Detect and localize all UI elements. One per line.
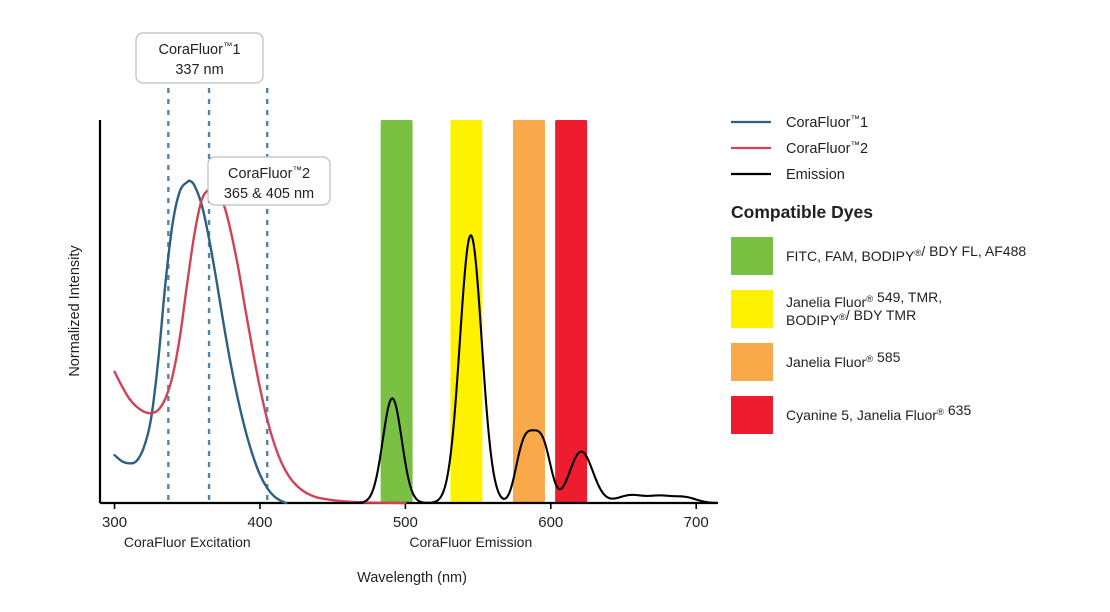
dye-reg-mark: ® bbox=[866, 294, 873, 305]
region-label-excitation: CoraFluor Excitation bbox=[124, 534, 251, 550]
x-tick-label-500: 500 bbox=[393, 514, 418, 531]
legend-tm-1: ™ bbox=[850, 114, 860, 125]
green-band bbox=[381, 120, 413, 503]
legend-tm-2: ™ bbox=[850, 140, 860, 151]
dye-text-run: Janelia Fluor bbox=[786, 354, 866, 370]
dye-row-2[interactable]: Janelia Fluor® 549, TMR,BODIPY®/ BDY TMR bbox=[731, 289, 942, 328]
spectra-figure: 300400500600700CoraFluor ExcitationCoraF… bbox=[0, 0, 1110, 612]
compatible-dyes-heading: Compatible Dyes bbox=[731, 202, 873, 222]
x-tick-label-300: 300 bbox=[102, 514, 127, 531]
dye-text-run: 585 bbox=[873, 349, 900, 365]
dye-reg-mark: ® bbox=[866, 354, 873, 365]
dye-text-run: / BDY TMR bbox=[846, 307, 916, 323]
x-tick-label-700: 700 bbox=[684, 514, 709, 531]
dye-reg-mark: ® bbox=[839, 312, 846, 323]
corafluor2-callout-tm: ™ bbox=[292, 165, 302, 176]
x-tick-label-400: 400 bbox=[247, 514, 272, 531]
corafluor1-callout-index: 1 bbox=[232, 42, 240, 58]
dye-swatch-3 bbox=[731, 343, 773, 381]
dye-text-run: 635 bbox=[944, 402, 971, 418]
dye-swatch-1 bbox=[731, 237, 773, 275]
dye-text-run: BODIPY bbox=[786, 312, 840, 328]
corafluor2-callout: CoraFluor™2365 & 405 nm bbox=[208, 157, 330, 205]
dye-text-run: Cyanine 5, Janelia Fluor bbox=[786, 407, 937, 423]
x-tick-label-600: 600 bbox=[538, 514, 563, 531]
dye-reg-mark: ® bbox=[937, 407, 944, 418]
legend-label-3: Emission bbox=[786, 167, 845, 183]
corafluor1-callout-line2: 337 nm bbox=[175, 62, 223, 78]
legend-index-1: 1 bbox=[860, 115, 868, 131]
red-band bbox=[555, 120, 587, 503]
dye-swatch-4 bbox=[731, 396, 773, 434]
region-label-emission: CoraFluor Emission bbox=[409, 534, 532, 550]
corafluor1-callout-tm: ™ bbox=[223, 41, 233, 52]
dye-text-run: 549, TMR, bbox=[873, 289, 942, 305]
corafluor2-callout-line2: 365 & 405 nm bbox=[224, 186, 314, 202]
corafluor2-callout-index: 2 bbox=[302, 166, 310, 182]
dye-text-run: / BDY FL, AF488 bbox=[921, 243, 1026, 259]
x-axis-title: Wavelength (nm) bbox=[357, 570, 467, 586]
corafluor1-callout: CoraFluor™1337 nm bbox=[136, 33, 263, 83]
dye-reg-mark: ® bbox=[914, 248, 921, 259]
dye-swatch-2 bbox=[731, 290, 773, 328]
y-axis-title: Normalized Intensity bbox=[67, 245, 83, 377]
legend-index-2: 2 bbox=[860, 141, 868, 157]
yellow-band bbox=[450, 120, 482, 503]
orange-band bbox=[513, 120, 545, 503]
dye-text-run: FITC, FAM, BODIPY bbox=[786, 248, 915, 264]
